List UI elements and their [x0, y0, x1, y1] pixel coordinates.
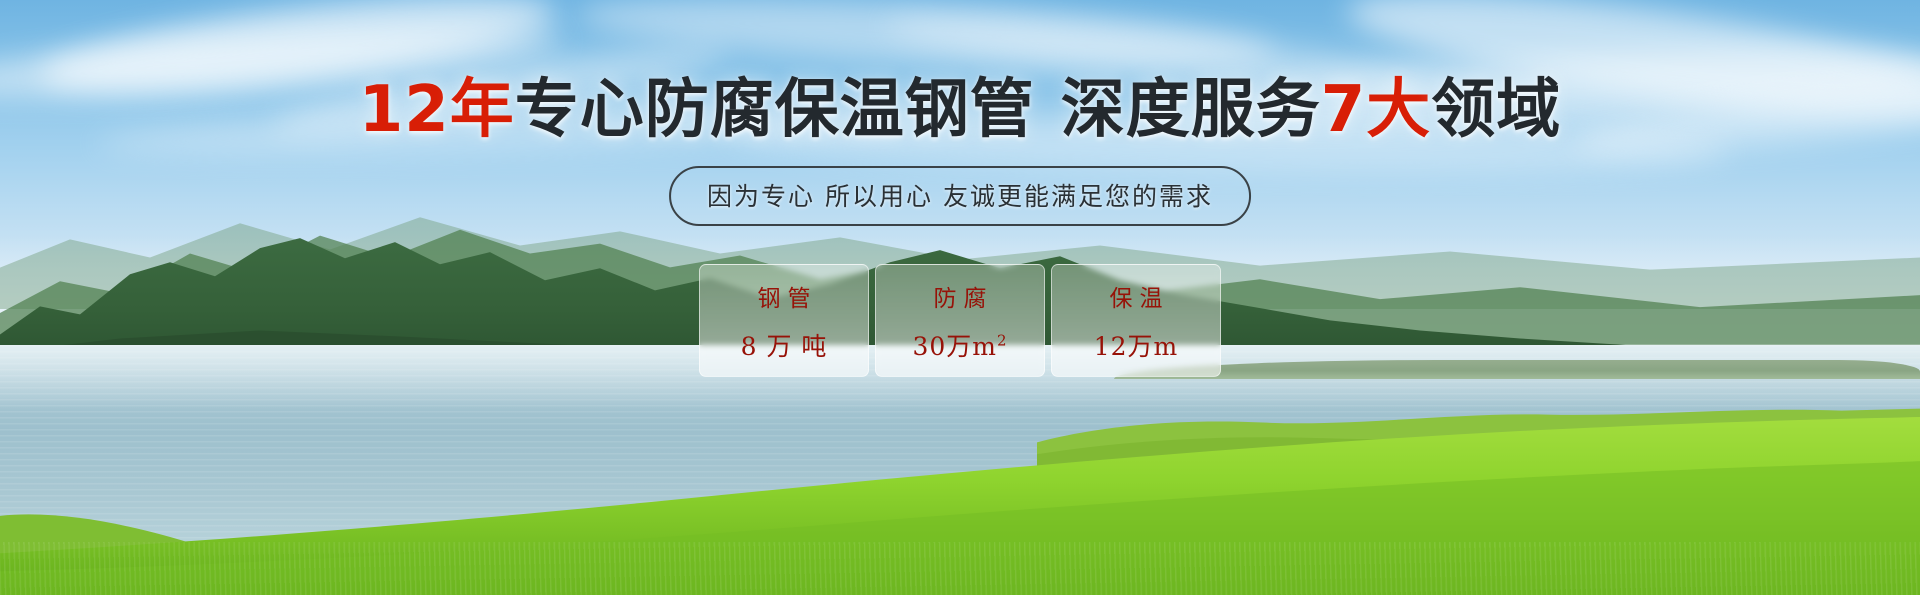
stat-card-value-text: 12万m: [1094, 332, 1179, 361]
stat-card-value-text: 30万m: [912, 332, 997, 361]
headline-years-number: 12: [359, 73, 450, 147]
stat-card-value: 8 万 吨: [741, 327, 828, 363]
stat-card-label: 钢管: [751, 279, 818, 313]
headline-segment-fields: 领域: [1431, 73, 1561, 147]
stat-card-group: 钢管 8 万 吨 防腐 30万m2 保温 12万m: [699, 264, 1221, 377]
headline-fields-unit: 大: [1366, 73, 1431, 147]
stat-card-value: 12万m: [1094, 327, 1179, 363]
stat-card-label: 保温: [1103, 279, 1170, 313]
headline-segment-service: 深度服务: [1061, 73, 1321, 147]
subtitle-pill: 因为专心 所以用心 友诚更能满足您的需求: [669, 166, 1251, 226]
stat-card: 防腐 30万m2: [875, 264, 1045, 377]
headline: 12年专心防腐保温钢管深度服务7大领域: [0, 78, 1920, 142]
stat-card-value-superscript: 2: [997, 331, 1008, 349]
headline-fields-number: 7: [1321, 73, 1367, 147]
hero-banner: 12年专心防腐保温钢管深度服务7大领域 因为专心 所以用心 友诚更能满足您的需求…: [0, 0, 1920, 595]
headline-segment-product: 专心防腐保温钢管: [515, 73, 1035, 147]
headline-years-unit: 年: [450, 73, 515, 147]
stat-card: 钢管 8 万 吨: [699, 264, 869, 377]
stat-card-value: 30万m2: [912, 327, 1007, 363]
stat-card-label: 防腐: [927, 279, 994, 313]
stat-card-value-text: 8 万 吨: [741, 332, 828, 361]
stat-card: 保温 12万m: [1051, 264, 1221, 377]
banner-content: 12年专心防腐保温钢管深度服务7大领域 因为专心 所以用心 友诚更能满足您的需求…: [0, 0, 1920, 595]
